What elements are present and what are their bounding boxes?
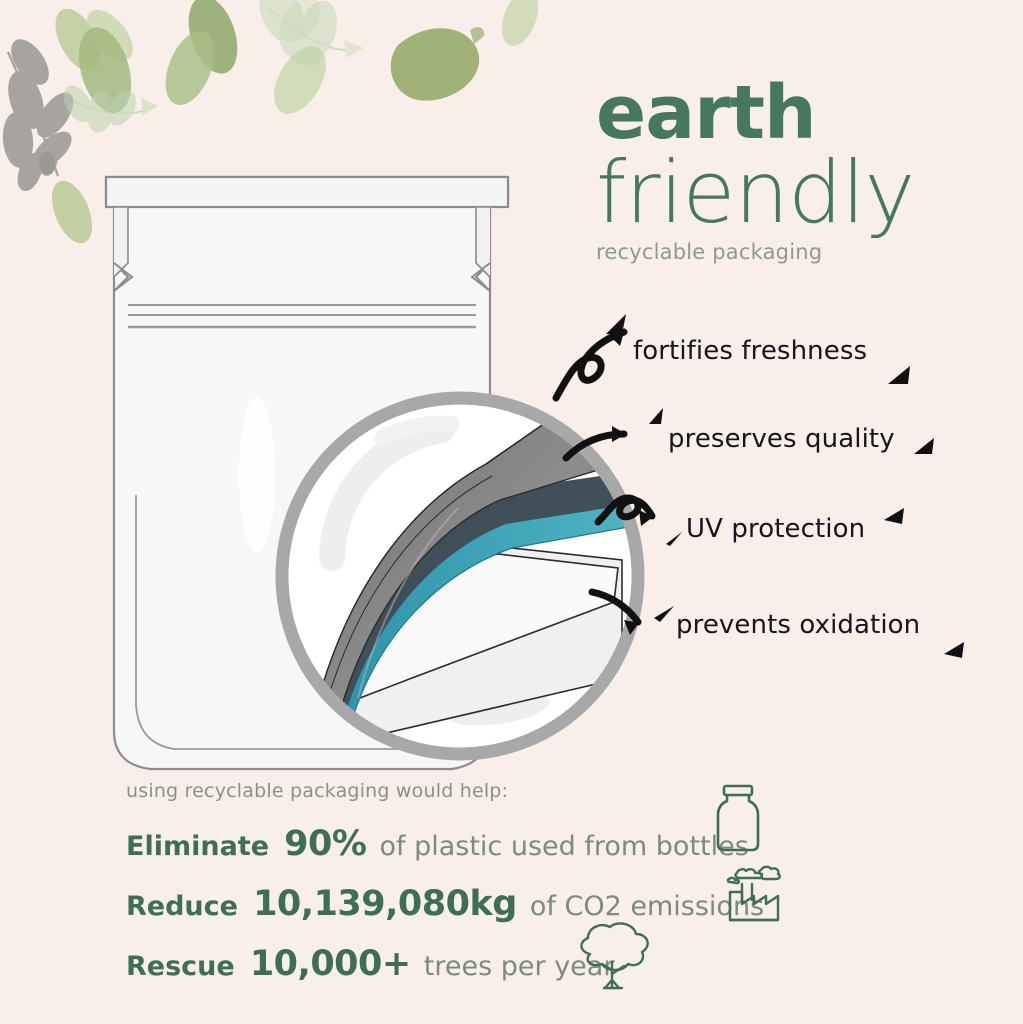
bottle-icon xyxy=(710,782,766,854)
stats-block: using recyclable packaging would help: E… xyxy=(126,780,886,802)
infographic-canvas: earth friendly recyclable packaging fort… xyxy=(0,0,1023,1024)
stat-row-reduce: Reduce 10,139,080kg of CO2 emissions xyxy=(126,884,764,924)
feature-label-prevents-oxidation: prevents oxidation xyxy=(676,610,920,640)
headline-subtitle: recyclable packaging xyxy=(596,240,996,264)
stat-number-3: 10,000+ xyxy=(250,944,411,984)
accent-triangle-pre-3 xyxy=(662,524,688,550)
tree-icon xyxy=(572,918,654,996)
accent-triangle-pre-4 xyxy=(650,600,680,628)
accent-triangle-post-2 xyxy=(908,432,940,464)
headline-block: earth friendly recyclable packaging xyxy=(596,78,996,264)
feature-label-fortifies-freshness: fortifies freshness xyxy=(633,336,867,366)
stat-verb-2: Reduce xyxy=(126,891,238,922)
accent-triangle-post-1 xyxy=(882,360,916,394)
accent-triangle-pre-1 xyxy=(600,308,636,342)
stat-row-rescue: Rescue 10,000+ trees per year xyxy=(126,944,614,984)
stat-number-2: 10,139,080kg xyxy=(253,884,517,924)
accent-triangle-post-3 xyxy=(880,504,910,532)
stats-intro: using recyclable packaging would help: xyxy=(126,780,886,802)
accent-triangle-post-4 xyxy=(940,636,970,664)
stat-verb-3: Rescue xyxy=(126,951,235,982)
factory-icon xyxy=(718,862,784,928)
stat-tail-1: of plastic used from bottles xyxy=(379,831,748,862)
feature-label-uv-protection: UV protection xyxy=(686,514,865,544)
stat-verb-1: Eliminate xyxy=(126,831,269,862)
accent-triangle-pre-2 xyxy=(645,404,669,428)
feature-label-preserves-quality: preserves quality xyxy=(668,424,895,454)
stat-number-1: 90% xyxy=(284,824,366,864)
stat-row-eliminate: Eliminate 90% of plastic used from bottl… xyxy=(126,824,749,864)
headline-friendly: friendly xyxy=(596,150,996,236)
headline-earth: earth xyxy=(596,78,996,148)
